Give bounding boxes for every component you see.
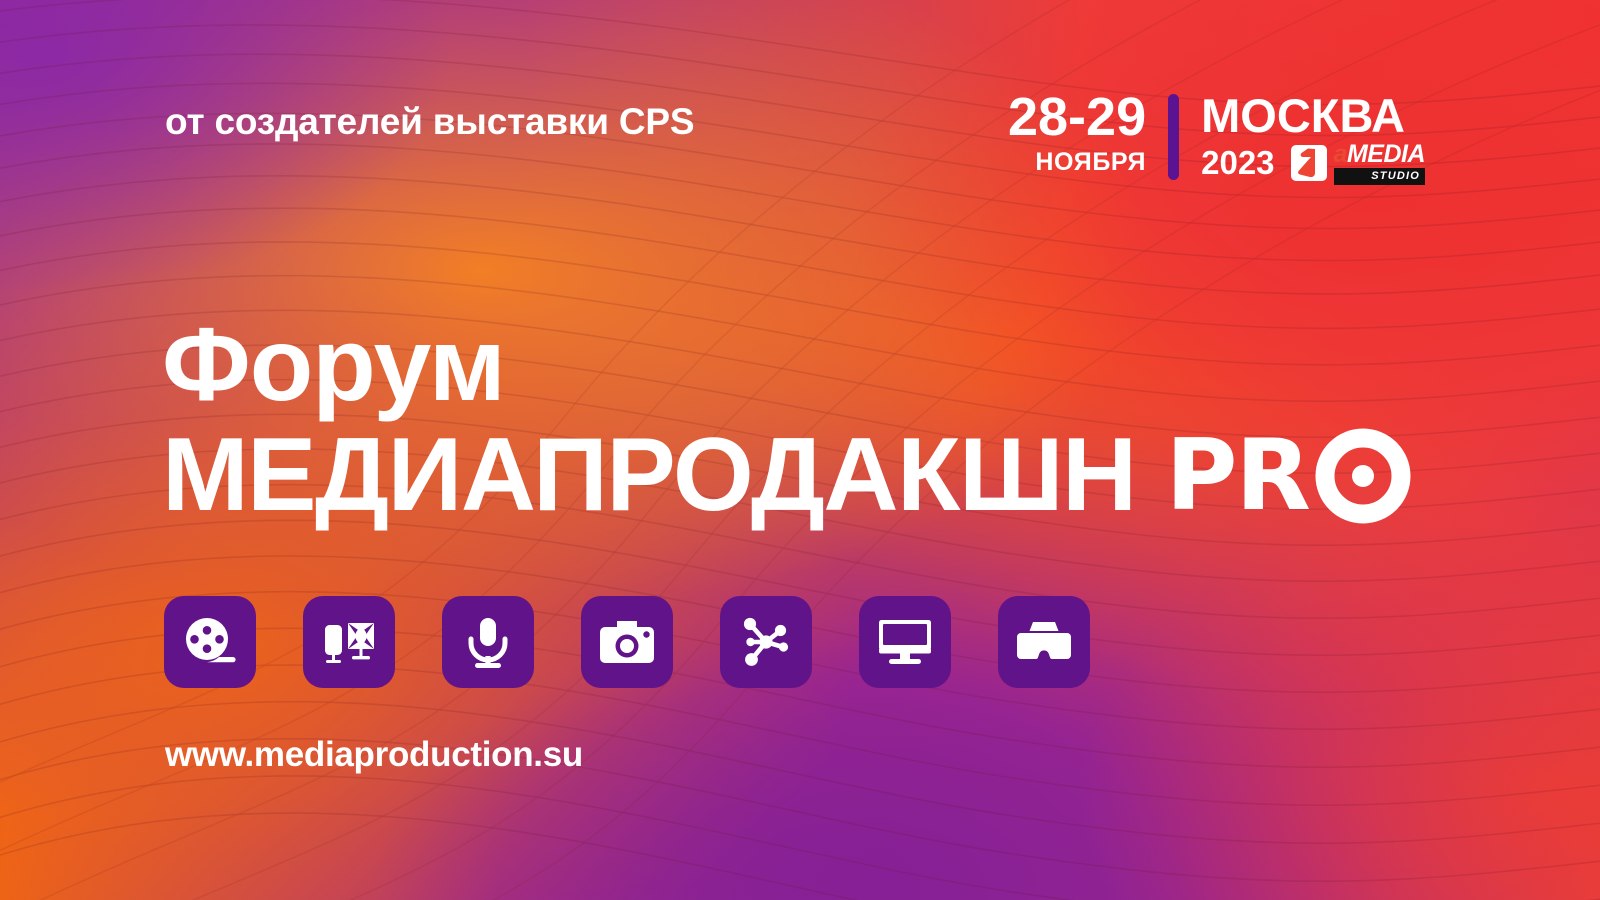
event-city: МОСКВА <box>1201 92 1405 140</box>
amedia-studio-logo: aMEDIA STUDIO <box>1289 142 1425 185</box>
headline-mediaproduction: МЕДИАПРОДАКШН <box>162 428 1136 524</box>
headline-block: Форум МЕДИАПРОДАКШН PR <box>162 318 1411 524</box>
location-group: МОСКВА 2023 aMEDIA STUDIO <box>1179 92 1425 188</box>
headline-pro-lens-o-icon <box>1315 428 1411 524</box>
tagline-text: от создателей выставки CPS <box>165 101 694 143</box>
date-group: 28-29 НОЯБРЯ <box>1008 92 1168 188</box>
headline-pro: PR <box>1166 428 1411 524</box>
icon-tile-photo-camera[interactable] <box>581 596 673 688</box>
event-dates: 28-29 <box>1008 92 1146 144</box>
logo-media-text: MEDIA <box>1347 140 1425 168</box>
logo-letter-a: a <box>1334 140 1347 168</box>
icon-tile-film-reel[interactable] <box>164 596 256 688</box>
website-url[interactable]: www.mediaproduction.su <box>165 735 583 775</box>
icon-tile-network-nodes[interactable] <box>720 596 812 688</box>
icon-tile-studio-light[interactable] <box>303 596 395 688</box>
icon-tile-microphone[interactable] <box>442 596 534 688</box>
headline-line-main: МЕДИАПРОДАКШН PR <box>162 428 1411 524</box>
logo-amedia-text: aMEDIA <box>1334 142 1425 167</box>
event-year: 2023 <box>1201 145 1274 181</box>
icon-tile-monitor[interactable] <box>859 596 951 688</box>
event-promo-banner: от создателей выставки CPS 28-29 НОЯБРЯ … <box>0 0 1600 900</box>
microphone-icon <box>463 614 513 670</box>
year-and-logo-row: 2023 aMEDIA STUDIO <box>1201 142 1425 185</box>
category-icon-row <box>164 596 1090 688</box>
icon-tile-vr-headset[interactable] <box>998 596 1090 688</box>
vr-headset-icon <box>1016 619 1072 665</box>
logo-wordmark: aMEDIA STUDIO <box>1334 142 1425 185</box>
event-month: НОЯБРЯ <box>1035 144 1146 180</box>
event-date-location-block: 28-29 НОЯБРЯ МОСКВА 2023 aMEDIA <box>1008 92 1425 188</box>
amedia-d-mark-icon <box>1289 143 1329 183</box>
vertical-divider-bar <box>1168 94 1179 180</box>
logo-studio-text: STUDIO <box>1334 168 1425 185</box>
headline-pro-letters: PR <box>1166 431 1309 521</box>
headline-line-forum: Форум <box>162 318 1411 414</box>
monitor-display-icon <box>877 617 933 667</box>
photo-camera-icon <box>598 618 656 666</box>
studio-light-icon <box>321 614 377 670</box>
network-nodes-icon <box>738 614 794 670</box>
banner-top-row: от создателей выставки CPS 28-29 НОЯБРЯ … <box>165 96 1425 196</box>
film-reel-icon <box>181 613 239 671</box>
